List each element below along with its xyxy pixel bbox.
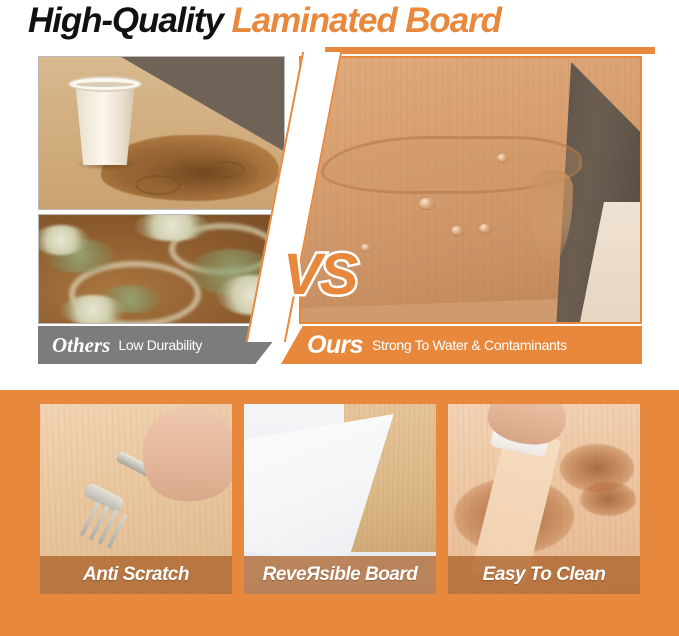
- product-feature-graphic: High-Quality Laminated Board: [0, 0, 679, 636]
- ours-subtitle: Strong To Water & Contaminants: [372, 337, 567, 353]
- water-bead: [497, 154, 508, 162]
- others-kicker: Others: [52, 333, 110, 358]
- others-subtitle: Low Durability: [118, 337, 202, 353]
- feature-label: ReveЯsible Board: [263, 564, 418, 586]
- others-column: Others Low Durability: [38, 56, 285, 366]
- spill-ring-icon: [135, 175, 181, 195]
- feature-card-easy-to-clean: Easy To Clean: [448, 404, 640, 594]
- water-bead: [361, 244, 371, 251]
- paper-cup-rim: [68, 76, 142, 92]
- ours-label-bar: Ours Strong To Water & Contaminants: [281, 326, 642, 364]
- headline-accent: Laminated Board: [231, 1, 500, 40]
- versus-badge: VS: [283, 246, 356, 304]
- headline: High-Quality Laminated Board: [0, 0, 679, 58]
- features-section: Anti Scratch ReveЯsible Board: [0, 390, 679, 636]
- comparison-section: Others Low Durability Ours Strong To Wat: [38, 56, 642, 366]
- feature-card-reversible-board: ReveЯsible Board: [244, 404, 436, 594]
- feature-label: Easy To Clean: [483, 564, 606, 586]
- ours-kicker: Ours: [307, 331, 363, 360]
- feature-caption-anti-scratch: Anti Scratch: [40, 556, 232, 594]
- spill-stain: [580, 482, 636, 516]
- feature-label: Anti Scratch: [83, 564, 189, 586]
- feature-card-anti-scratch: Anti Scratch: [40, 404, 232, 594]
- headline-text: High-Quality Laminated Board: [28, 1, 501, 41]
- headline-underline-bar: [325, 47, 655, 54]
- water-bead: [479, 224, 491, 233]
- water-bead: [419, 198, 435, 209]
- feature-caption-easy-to-clean: Easy To Clean: [448, 556, 640, 594]
- ours-column: Ours Strong To Water & Contaminants: [281, 56, 642, 366]
- headline-primary: High-Quality: [28, 1, 223, 40]
- panel-coffee-spill: [38, 56, 285, 210]
- panel-mold-damage: [38, 214, 285, 324]
- mold-patch-white: [61, 295, 125, 324]
- water-bead: [451, 226, 464, 235]
- spill-ring-icon: [207, 161, 245, 178]
- feature-caption-reversible-board: ReveЯsible Board: [244, 556, 436, 594]
- feature-row: Anti Scratch ReveЯsible Board: [40, 404, 640, 594]
